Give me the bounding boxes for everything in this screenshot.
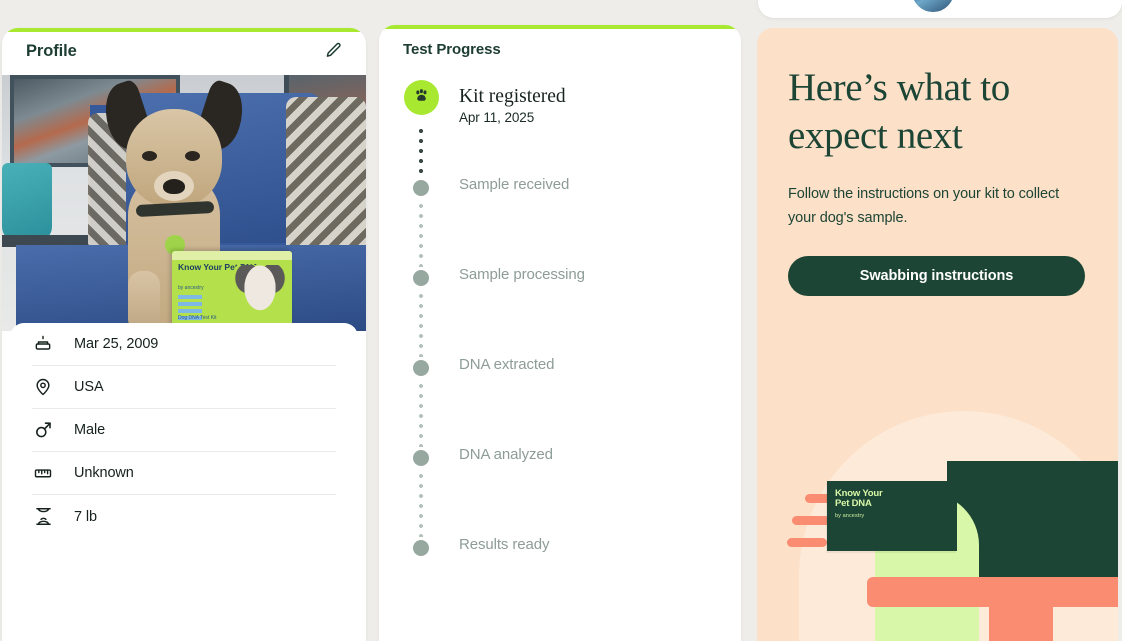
step-marker-pending	[413, 270, 429, 286]
step-marker-pending	[413, 180, 429, 196]
detail-row-weight: 7 lb	[32, 495, 336, 538]
step-label: Sample received	[459, 177, 569, 192]
step-marker-pending	[413, 360, 429, 376]
expect-heading: Here’s what to expect next	[757, 28, 1118, 159]
avatar	[910, 0, 956, 14]
detail-row-sex: Male	[32, 409, 336, 452]
step-connector	[419, 381, 423, 447]
step-label: Kit registered	[459, 87, 566, 107]
detail-value: Unknown	[74, 465, 134, 481]
card-accent-bar	[379, 25, 741, 29]
detail-value: 7 lb	[74, 509, 97, 525]
page-title: Profile	[26, 42, 77, 61]
detail-row-location: USA	[32, 366, 336, 409]
progress-step-sample-received: Sample received	[379, 177, 741, 267]
pet-photo: Know Your Pet DNA by ancestry Dog DNA Te…	[2, 75, 366, 331]
ruler-icon	[32, 462, 54, 484]
step-label: Sample processing	[459, 267, 585, 282]
progress-steps: Kit registered Apr 11, 2025 Sample recei…	[379, 58, 741, 627]
profile-header: Profile	[2, 28, 366, 75]
step-marker-complete	[404, 80, 439, 115]
section-title: Test Progress	[379, 25, 741, 58]
test-progress-card: Test Progress	[379, 25, 741, 641]
illustration-kit-title: Know Your Pet DNA	[835, 489, 882, 510]
swabbing-instructions-button[interactable]: Swabbing instructions	[788, 256, 1085, 296]
detail-value: USA	[74, 379, 104, 395]
profile-card: Profile	[2, 28, 366, 641]
detail-value: Male	[74, 422, 105, 438]
step-connector	[419, 201, 423, 267]
progress-step-dna-analyzed: DNA analyzed	[379, 447, 741, 537]
detail-row-birthdate: Mar 25, 2009	[32, 323, 336, 366]
photo-kit-caption: Dog DNA Test Kit	[178, 315, 217, 321]
step-date: Apr 11, 2025	[459, 110, 566, 125]
step-marker-pending	[413, 450, 429, 466]
photo-kit-subtitle: by ancestry	[178, 285, 204, 291]
edit-profile-button[interactable]	[320, 39, 346, 65]
birthday-cake-icon	[32, 333, 54, 355]
detail-row-height: Unknown	[32, 452, 336, 495]
progress-step-dna-extracted: DNA extracted	[379, 357, 741, 447]
step-connector	[419, 126, 423, 176]
illustration-kit-subtitle: by ancestry	[835, 513, 864, 519]
weight-scale-icon	[32, 506, 54, 528]
expect-heading-line2: expect next	[788, 112, 1088, 160]
step-marker-pending	[413, 540, 429, 556]
paw-print-icon	[412, 86, 431, 110]
step-label: DNA extracted	[459, 357, 554, 372]
expect-heading-line1: Here’s what to	[788, 64, 1088, 112]
progress-step-kit-registered: Kit registered Apr 11, 2025	[379, 87, 741, 177]
step-label: DNA analyzed	[459, 447, 553, 462]
male-gender-icon	[32, 419, 54, 441]
location-pin-icon	[32, 376, 54, 398]
progress-step-results-ready: Results ready	[379, 537, 741, 627]
expect-body-text: Follow the instructions on your kit to c…	[757, 159, 1118, 230]
step-connector	[419, 471, 423, 537]
profile-details-panel: Mar 25, 2009 USA Male	[10, 323, 358, 538]
progress-step-sample-processing: Sample processing	[379, 267, 741, 357]
app-root: Profile	[0, 0, 1122, 641]
step-label: Results ready	[459, 537, 549, 552]
top-partial-card[interactable]	[758, 0, 1122, 18]
expect-next-card: Here’s what to expect next Follow the in…	[757, 28, 1118, 641]
illustration-kit-box: Know Your Pet DNA by ancestry	[827, 481, 957, 551]
photo-kit-box: Know Your Pet DNA by ancestry Dog DNA Te…	[172, 251, 292, 331]
detail-value: Mar 25, 2009	[74, 336, 158, 352]
mailbox-with-kit-illustration: Know Your Pet DNA by ancestry	[757, 361, 1118, 641]
step-connector	[419, 291, 423, 357]
pencil-icon	[324, 41, 343, 63]
